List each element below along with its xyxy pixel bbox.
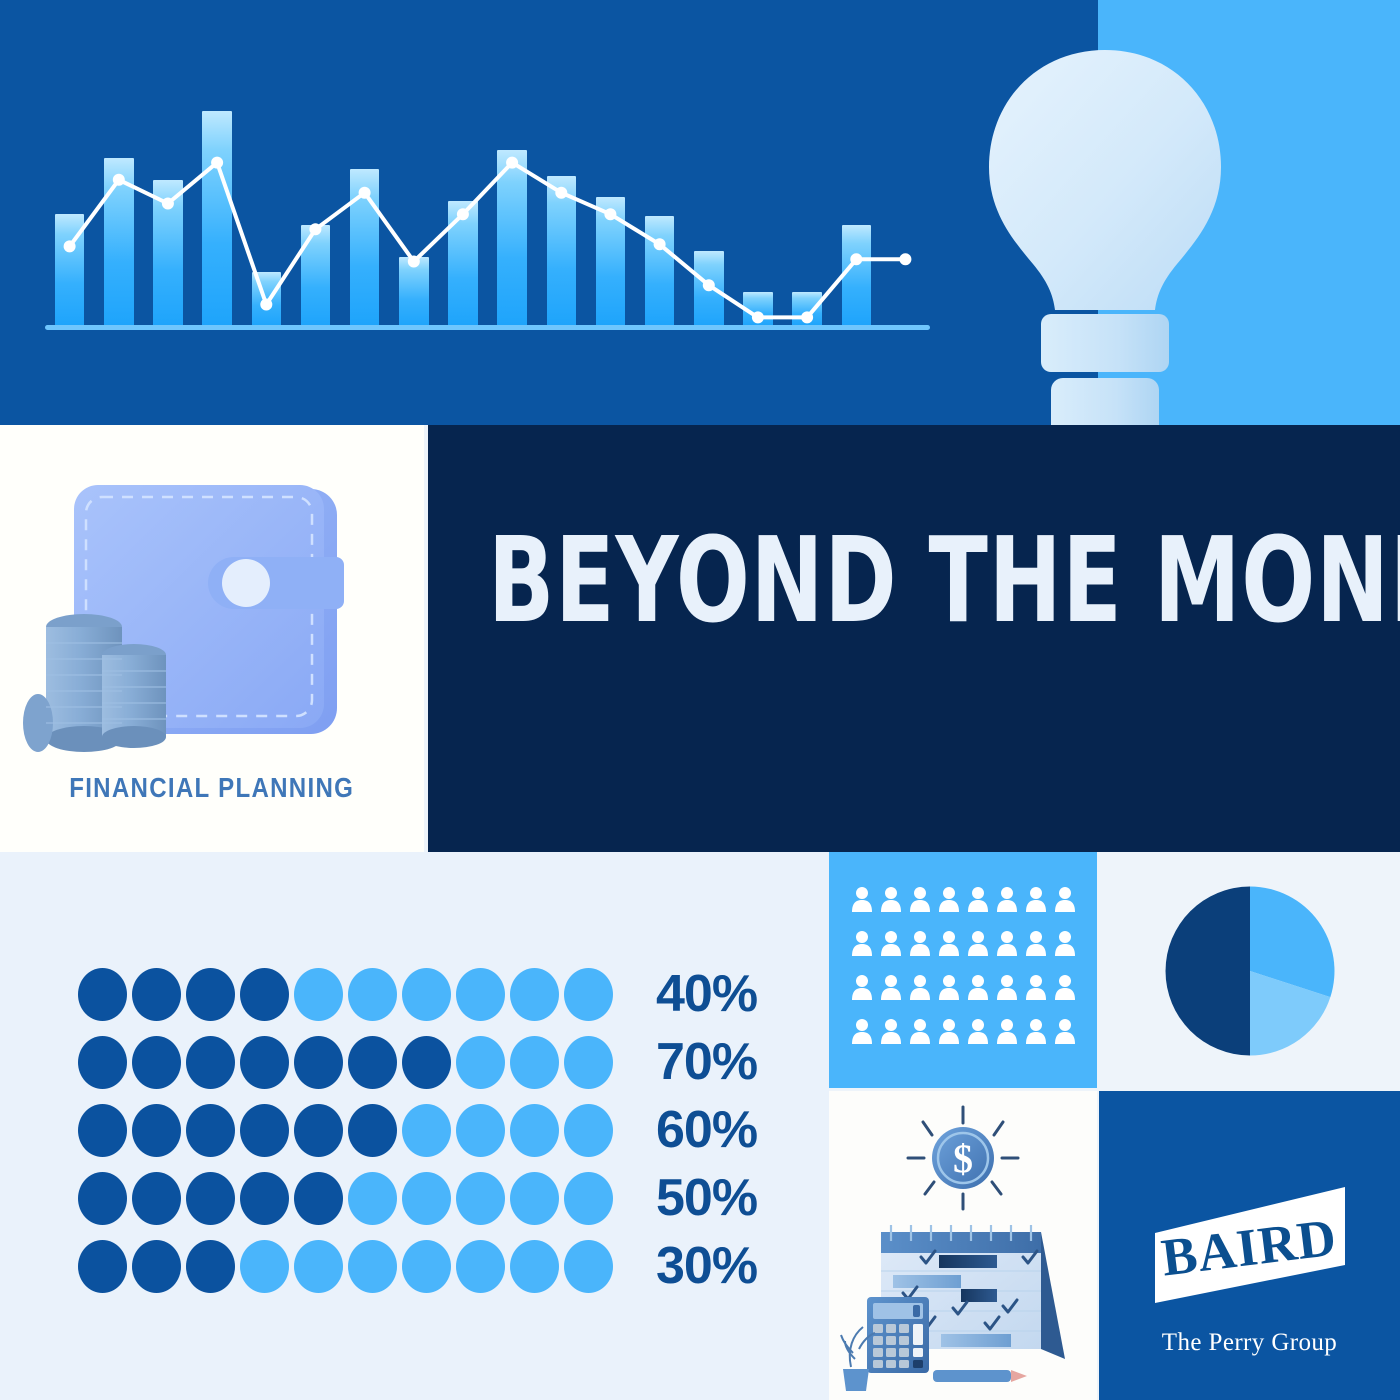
people-pictogram-panel bbox=[829, 852, 1097, 1088]
pie-slice bbox=[1165, 887, 1249, 1056]
dot-filled bbox=[294, 1172, 343, 1225]
dot-empty bbox=[348, 1240, 397, 1293]
person-icon bbox=[1050, 1018, 1079, 1062]
dot-empty bbox=[456, 1104, 505, 1157]
financial-planning-label: FINANCIAL PLANNING bbox=[0, 772, 424, 804]
dot-empty bbox=[240, 1240, 289, 1293]
wallet-with-coins-icon bbox=[16, 455, 408, 775]
baird-logo-panel: BAIRD The Perry Group bbox=[1099, 1091, 1400, 1400]
bar-line-chart bbox=[45, 105, 930, 330]
dot-filled bbox=[186, 1104, 235, 1157]
pencil-icon bbox=[933, 1370, 1033, 1382]
dot-matrix-percent-label: 60% bbox=[656, 1100, 757, 1160]
baird-wordmark: BAIRD bbox=[1158, 1209, 1340, 1288]
person-icon bbox=[992, 974, 1021, 1018]
person-icon bbox=[1050, 930, 1079, 974]
infographic-canvas: FINANCIAL PLANNING BEYOND THE MONEY 40%7… bbox=[0, 0, 1400, 1400]
dot-empty bbox=[294, 1240, 343, 1293]
chart-trend-line bbox=[45, 105, 930, 330]
dot-filled bbox=[132, 968, 181, 1021]
dot-filled bbox=[348, 1036, 397, 1089]
dot-empty bbox=[564, 968, 613, 1021]
dot-empty bbox=[510, 1104, 559, 1157]
person-icon bbox=[992, 1018, 1021, 1062]
person-icon bbox=[847, 1018, 876, 1062]
dot-matrix-percent-label: 40% bbox=[656, 964, 757, 1024]
dot-empty bbox=[348, 1172, 397, 1225]
pie-chart-panel bbox=[1099, 852, 1400, 1090]
person-icon bbox=[934, 1018, 963, 1062]
dot-filled bbox=[78, 1104, 127, 1157]
dot-filled bbox=[186, 968, 235, 1021]
dot-empty bbox=[564, 1104, 613, 1157]
person-icon bbox=[905, 886, 934, 930]
person-icon bbox=[1050, 974, 1079, 1018]
dot-filled bbox=[78, 1036, 127, 1089]
person-icon bbox=[963, 886, 992, 930]
person-icon bbox=[847, 974, 876, 1018]
dot-empty bbox=[456, 1172, 505, 1225]
person-icon bbox=[1021, 886, 1050, 930]
dot-matrix-row: 60% bbox=[78, 1096, 758, 1164]
dot-filled bbox=[132, 1172, 181, 1225]
person-icon bbox=[847, 886, 876, 930]
dot-matrix-percent-label: 70% bbox=[656, 1032, 757, 1092]
dot-matrix-row: 50% bbox=[78, 1164, 758, 1232]
person-icon bbox=[963, 974, 992, 1018]
person-icon bbox=[992, 930, 1021, 974]
person-icon bbox=[934, 886, 963, 930]
title-panel: BEYOND THE MONEY bbox=[428, 425, 1400, 852]
person-icon bbox=[876, 886, 905, 930]
person-icon bbox=[905, 974, 934, 1018]
baird-logo-mark: BAIRD bbox=[1143, 1183, 1357, 1307]
people-grid bbox=[847, 886, 1079, 1062]
dot-empty bbox=[456, 968, 505, 1021]
dot-filled bbox=[240, 1036, 289, 1089]
dot-matrix-chart: 40%70%60%50%30% bbox=[78, 960, 758, 1300]
person-icon bbox=[934, 974, 963, 1018]
dot-matrix-percent-label: 30% bbox=[656, 1236, 757, 1296]
person-icon bbox=[1021, 1018, 1050, 1062]
person-icon bbox=[1021, 974, 1050, 1018]
dot-empty bbox=[402, 1172, 451, 1225]
calendar-calculator-illustration: $ bbox=[829, 1091, 1097, 1400]
dot-empty bbox=[564, 1240, 613, 1293]
dot-empty bbox=[564, 1036, 613, 1089]
dot-filled bbox=[132, 1104, 181, 1157]
dot-empty bbox=[510, 1036, 559, 1089]
dot-empty bbox=[402, 1240, 451, 1293]
dot-filled bbox=[240, 1172, 289, 1225]
person-icon bbox=[963, 930, 992, 974]
person-icon bbox=[1021, 930, 1050, 974]
person-icon bbox=[905, 1018, 934, 1062]
dot-empty bbox=[348, 968, 397, 1021]
pie-chart bbox=[1162, 883, 1338, 1059]
dot-filled bbox=[402, 1036, 451, 1089]
dot-empty bbox=[456, 1240, 505, 1293]
dot-filled bbox=[78, 1172, 127, 1225]
dot-filled bbox=[294, 1104, 343, 1157]
person-icon bbox=[963, 1018, 992, 1062]
dot-filled bbox=[132, 1240, 181, 1293]
person-icon bbox=[876, 974, 905, 1018]
baird-team-name: The Perry Group bbox=[1099, 1329, 1400, 1357]
dot-filled bbox=[240, 968, 289, 1021]
dot-matrix-row: 30% bbox=[78, 1232, 758, 1300]
dot-matrix-row: 70% bbox=[78, 1028, 758, 1096]
dot-filled bbox=[186, 1172, 235, 1225]
dot-matrix-row: 40% bbox=[78, 960, 758, 1028]
lightbulb-icon bbox=[975, 32, 1235, 492]
dot-empty bbox=[564, 1172, 613, 1225]
person-icon bbox=[1050, 886, 1079, 930]
person-icon bbox=[876, 1018, 905, 1062]
dollar-coin-icon: $ bbox=[908, 1107, 1018, 1209]
chart-baseline-axis bbox=[45, 325, 930, 330]
dot-filled bbox=[186, 1036, 235, 1089]
dot-empty bbox=[402, 968, 451, 1021]
bar-chart-panel bbox=[0, 0, 1098, 425]
financial-planning-panel: FINANCIAL PLANNING bbox=[0, 425, 424, 852]
person-icon bbox=[905, 930, 934, 974]
dot-empty bbox=[402, 1104, 451, 1157]
dot-matrix-percent-label: 50% bbox=[656, 1168, 757, 1228]
person-icon bbox=[934, 930, 963, 974]
dot-filled bbox=[186, 1240, 235, 1293]
dot-empty bbox=[510, 1172, 559, 1225]
dot-empty bbox=[510, 1240, 559, 1293]
dot-filled bbox=[132, 1036, 181, 1089]
dot-filled bbox=[78, 1240, 127, 1293]
dot-empty bbox=[510, 968, 559, 1021]
dot-empty bbox=[294, 968, 343, 1021]
dot-filled bbox=[78, 968, 127, 1021]
person-icon bbox=[992, 886, 1021, 930]
svg-text:$: $ bbox=[953, 1136, 973, 1181]
dot-empty bbox=[456, 1036, 505, 1089]
page-title: BEYOND THE MONEY bbox=[488, 580, 1400, 698]
planning-illustration-panel: $ bbox=[829, 1091, 1097, 1400]
person-icon bbox=[876, 930, 905, 974]
dot-filled bbox=[240, 1104, 289, 1157]
calculator-icon bbox=[867, 1297, 929, 1373]
dot-filled bbox=[348, 1104, 397, 1157]
person-icon bbox=[847, 930, 876, 974]
dot-filled bbox=[294, 1036, 343, 1089]
